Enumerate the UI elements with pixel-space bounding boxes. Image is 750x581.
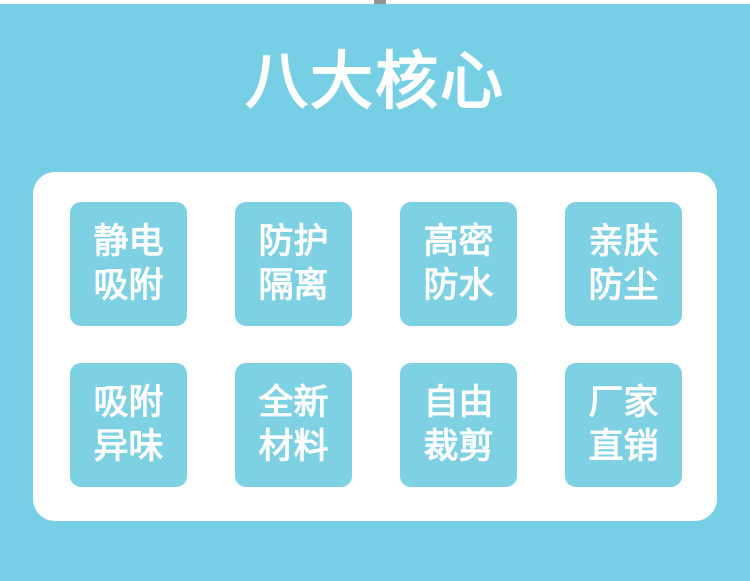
feature-tile-new-material[interactable]: 全新 材料 — [235, 363, 352, 487]
feature-tile-label-line2: 异味 — [93, 425, 163, 469]
feature-tile-label-line2: 防水 — [423, 264, 493, 308]
feature-tile-label-line1: 吸附 — [93, 381, 163, 425]
feature-tile-label-line2: 材料 — [258, 425, 328, 469]
feature-tile-static-adsorption[interactable]: 静电 吸附 — [70, 202, 187, 326]
promo-banner: 八大核心 静电 吸附 防护 隔离 高密 防水 亲肤 防尘 吸附 异味 — [0, 0, 750, 581]
feature-tile-skin-friendly-dustproof[interactable]: 亲肤 防尘 — [565, 202, 682, 326]
feature-tile-factory-direct-sales[interactable]: 厂家 直销 — [565, 363, 682, 487]
feature-tile-label-line1: 高密 — [423, 220, 493, 264]
feature-tile-label-line1: 静电 — [93, 220, 163, 264]
feature-tile-label-line2: 隔离 — [258, 264, 328, 308]
feature-tile-label-line1: 防护 — [258, 220, 328, 264]
feature-tile-label-line1: 厂家 — [588, 381, 658, 425]
feature-tile-label-line2: 吸附 — [93, 264, 163, 308]
feature-tile-label-line2: 裁剪 — [423, 425, 493, 469]
page-title: 八大核心 — [0, 44, 750, 120]
feature-tile-label-line1: 自由 — [423, 381, 493, 425]
feature-grid: 静电 吸附 防护 隔离 高密 防水 亲肤 防尘 吸附 异味 全新 材料 — [70, 202, 681, 487]
feature-tile-label-line1: 亲肤 — [588, 220, 658, 264]
feature-card: 静电 吸附 防护 隔离 高密 防水 亲肤 防尘 吸附 异味 全新 材料 — [33, 172, 717, 521]
feature-tile-label-line2: 防尘 — [588, 264, 658, 308]
feature-tile-label-line2: 直销 — [588, 425, 658, 469]
feature-tile-free-cutting[interactable]: 自由 裁剪 — [400, 363, 517, 487]
cropped-text-sliver — [374, 0, 386, 4]
feature-tile-high-density-waterproof[interactable]: 高密 防水 — [400, 202, 517, 326]
feature-tile-label-line1: 全新 — [258, 381, 328, 425]
feature-tile-protective-isolation[interactable]: 防护 隔离 — [235, 202, 352, 326]
feature-tile-odor-adsorption[interactable]: 吸附 异味 — [70, 363, 187, 487]
top-seam-divider — [0, 0, 750, 4]
